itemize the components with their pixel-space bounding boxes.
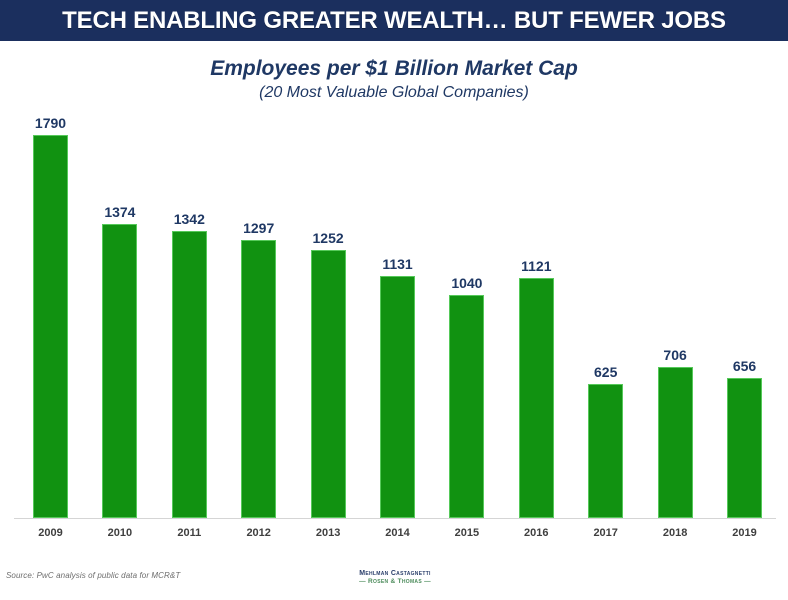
logo-line-2: — Rosen & Thomas — <box>345 578 445 585</box>
bar[interactable] <box>380 276 415 518</box>
bar-group: 10402015 <box>432 0 501 600</box>
bar-group: 11312014 <box>363 0 432 600</box>
bar[interactable] <box>588 384 623 518</box>
mehlman-castagnetti-logo: Mehlman Castagnetti — Rosen & Thomas — <box>345 570 445 586</box>
bar[interactable] <box>102 224 137 518</box>
x-axis-tick-label: 2017 <box>571 527 640 539</box>
bar-value-label: 1040 <box>432 275 501 291</box>
logo-line-1: Mehlman Castagnetti <box>345 570 445 578</box>
x-axis-tick-label: 2012 <box>224 527 293 539</box>
bar[interactable] <box>449 295 484 518</box>
x-axis-tick-label: 2010 <box>85 527 154 539</box>
x-axis-tick-label: 2013 <box>294 527 363 539</box>
bar[interactable] <box>519 278 554 518</box>
bar-group: 6562019 <box>710 0 779 600</box>
bar-group: 7062018 <box>641 0 710 600</box>
x-axis-tick-label: 2018 <box>641 527 710 539</box>
x-axis-tick-label: 2016 <box>502 527 571 539</box>
bar-group: 12972012 <box>224 0 293 600</box>
x-axis-tick-label: 2015 <box>432 527 501 539</box>
bar-value-label: 1297 <box>224 220 293 236</box>
bar[interactable] <box>241 240 276 518</box>
bar-value-label: 1342 <box>155 211 224 227</box>
bar[interactable] <box>33 135 68 518</box>
bar-value-label: 1252 <box>294 230 363 246</box>
x-axis-tick-label: 2019 <box>710 527 779 539</box>
bar-chart-plot: 1790200913742010134220111297201212522013… <box>0 0 788 600</box>
bar-group: 13422011 <box>155 0 224 600</box>
x-axis-tick-label: 2014 <box>363 527 432 539</box>
x-axis-tick-label: 2009 <box>16 527 85 539</box>
bar-value-label: 656 <box>710 358 779 374</box>
bar-group: 13742010 <box>85 0 154 600</box>
bar[interactable] <box>727 378 762 518</box>
bar[interactable] <box>311 250 346 518</box>
bar-group: 6252017 <box>571 0 640 600</box>
bar-value-label: 1121 <box>502 258 571 274</box>
x-axis-tick-label: 2011 <box>155 527 224 539</box>
bar[interactable] <box>658 367 693 518</box>
bar-value-label: 1374 <box>85 204 154 220</box>
bar[interactable] <box>172 231 207 518</box>
source-note: Source: PwC analysis of public data for … <box>6 571 180 580</box>
bar-value-label: 1790 <box>16 115 85 131</box>
bar-group: 12522013 <box>294 0 363 600</box>
bar-value-label: 706 <box>641 347 710 363</box>
bar-group: 17902009 <box>16 0 85 600</box>
bar-value-label: 625 <box>571 364 640 380</box>
bar-value-label: 1131 <box>363 256 432 272</box>
bar-group: 11212016 <box>502 0 571 600</box>
